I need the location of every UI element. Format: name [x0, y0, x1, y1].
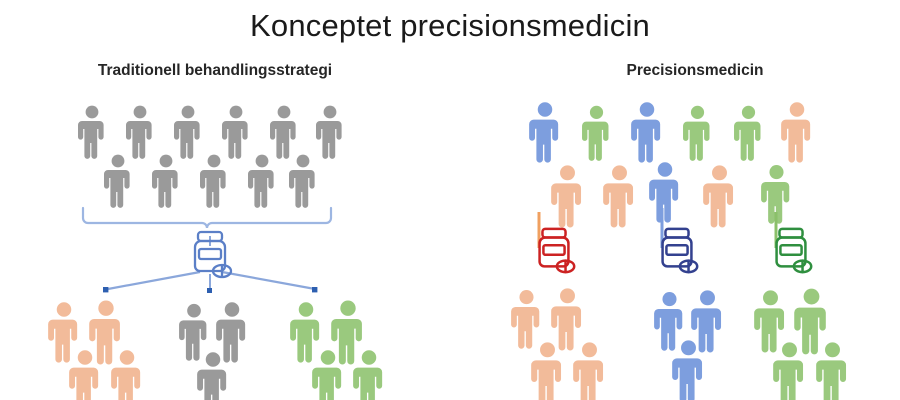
medicine-bottle-icon	[184, 228, 236, 280]
outcome-person-orange	[68, 348, 102, 400]
cohort-person-gray	[77, 104, 107, 158]
panel-traditional: Traditionell behandlingsstrategi	[0, 0, 450, 400]
cohort-person-green	[682, 104, 713, 160]
outcome-person-orange	[510, 288, 543, 348]
outcome-person-orange	[572, 340, 607, 400]
slide-canvas: Konceptet precisionsmedicin Traditionell…	[0, 0, 900, 400]
cohort-person-gray	[247, 153, 277, 207]
cohort-person-orange	[550, 163, 585, 227]
cohort-person-gray	[173, 104, 203, 158]
cohort-person-gray	[269, 104, 299, 158]
outcome-person-blue	[671, 338, 706, 400]
outcome-person-green	[352, 348, 386, 400]
medicine-bottle-icon-red	[529, 224, 579, 276]
cohort-person-gray	[103, 153, 133, 207]
outcome-person-green	[311, 348, 345, 400]
cohort-person-gray	[221, 104, 251, 158]
panel-precision: Precisionsmedicin	[450, 0, 900, 400]
cohort-person-gray	[315, 104, 345, 158]
cohort-person-gray	[151, 153, 181, 207]
outcome-person-orange	[530, 340, 565, 400]
cohort-person-orange	[602, 163, 637, 227]
cohort-person-blue	[630, 100, 664, 162]
outcome-person-green	[815, 340, 850, 400]
cohort-person-orange	[780, 100, 814, 162]
cohort-person-green	[733, 104, 764, 160]
cohort-person-gray	[199, 153, 229, 207]
cohort-person-orange	[702, 163, 737, 227]
cohort-person-green	[581, 104, 612, 160]
cohort-person-blue	[528, 100, 562, 162]
outcome-person-gray	[196, 350, 230, 400]
panel-precision-subtitle: Precisionsmedicin	[500, 62, 890, 80]
cohort-person-gray	[288, 153, 318, 207]
medicine-bottle-icon-blue	[652, 224, 702, 276]
panel-traditional-subtitle: Traditionell behandlingsstrategi	[20, 62, 410, 80]
outcome-person-orange	[110, 348, 144, 400]
cohort-person-gray	[125, 104, 155, 158]
outcome-person-green	[772, 340, 807, 400]
medicine-bottle-icon-green	[766, 224, 816, 276]
